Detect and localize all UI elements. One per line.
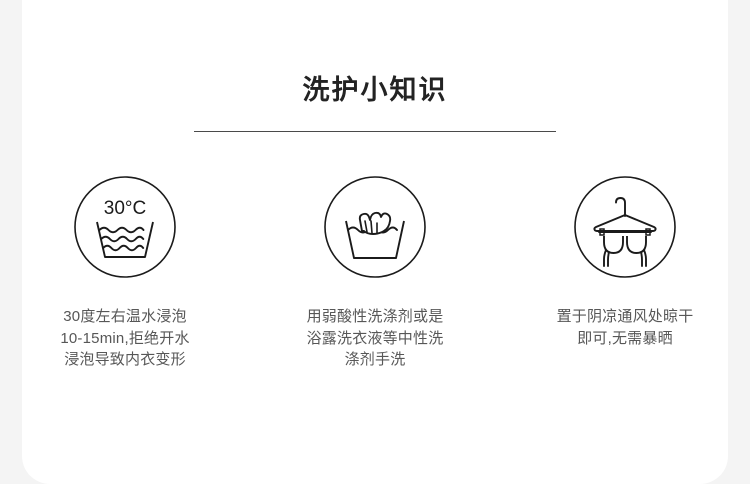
tip-item-hang-dry: 置于阴凉通风处晾干 即可,无需暴晒 [508,176,743,371]
caption-line: 浴露洗衣液等中性洗 [268,328,483,350]
hand-wash-icon [324,176,426,278]
caption-line: 30度左右温水浸泡 [18,306,233,328]
tip-item-hand-wash: 用弱酸性洗涤剂或是 浴露洗衣液等中性洗 涤剂手洗 [258,176,493,371]
caption-line: 即可,无需暴晒 [518,328,733,350]
caption-line: 10-15min,拒绝开水 [18,328,233,350]
care-instructions-section: 洗护小知识 30°C 30度左右温水浸泡 10-15min,拒绝开水 浸泡导致内… [0,0,750,477]
page-title: 洗护小知识 [0,72,750,108]
wash-temperature-label: 30°C [104,198,146,219]
tip-caption-hand-wash: 用弱酸性洗涤剂或是 浴露洗衣液等中性洗 涤剂手洗 [268,306,483,371]
tip-caption-hang-dry: 置于阴凉通风处晾干 即可,无需暴晒 [518,306,733,349]
wash-temperature-30c-icon: 30°C [74,176,176,278]
hang-dry-in-shade-icon [574,176,676,278]
tip-caption-wash-temperature: 30度左右温水浸泡 10-15min,拒绝开水 浸泡导致内衣变形 [18,306,233,371]
caption-line: 用弱酸性洗涤剂或是 [268,306,483,328]
title-divider [194,131,556,132]
caption-line: 置于阴凉通风处晾干 [518,306,733,328]
title-block: 洗护小知识 [0,72,750,108]
tips-row: 30°C 30度左右温水浸泡 10-15min,拒绝开水 浸泡导致内衣变形 [0,176,750,371]
tip-item-wash-temperature: 30°C 30度左右温水浸泡 10-15min,拒绝开水 浸泡导致内衣变形 [8,176,243,371]
caption-line: 浸泡导致内衣变形 [18,349,233,371]
caption-line: 涤剂手洗 [268,349,483,371]
